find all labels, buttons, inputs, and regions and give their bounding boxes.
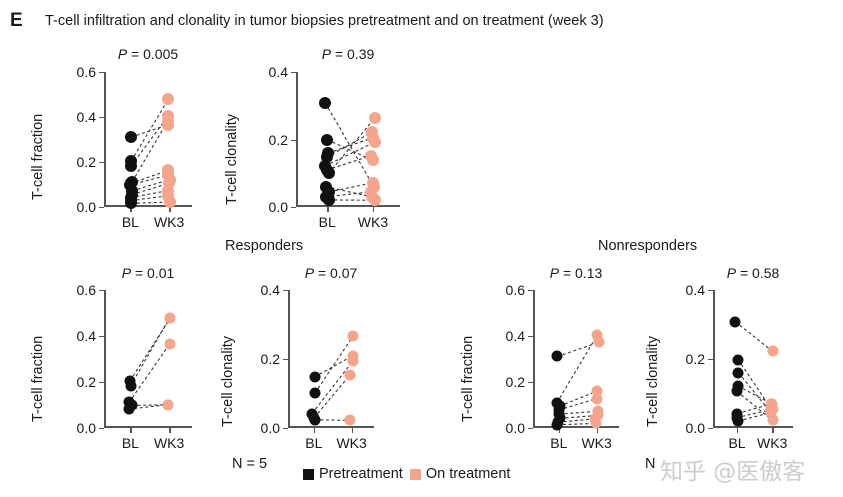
y-tick: [291, 207, 296, 208]
data-point-ontreatment: [369, 194, 381, 206]
x-tick-label-wk3: WK3: [336, 435, 366, 451]
ylabel-nonresponders-fraction: T-cell fraction: [460, 336, 476, 422]
y-tick-label: 0.0: [686, 420, 705, 436]
pair-line: [328, 138, 372, 153]
data-point-pretreatment: [551, 397, 562, 408]
plot-all-clonality: P = 0.39T-cell clonality0.00.20.4BLWK3: [0, 0, 843, 497]
data-point-pretreatment: [124, 375, 135, 386]
data-point-ontreatment: [591, 418, 602, 429]
pair-line: [130, 318, 170, 381]
pvalue-number: = 0.01: [131, 265, 174, 281]
pvalue-number: = 0.005: [127, 46, 178, 62]
data-point-ontreatment: [366, 126, 378, 138]
data-point-pretreatment: [319, 97, 331, 109]
y-tick-label: 0.2: [77, 374, 96, 390]
pair-line: [737, 391, 773, 420]
pair-line: [557, 342, 598, 356]
data-points-nonresponders-fraction: [533, 290, 619, 428]
x-axis-line: [533, 426, 619, 428]
y-tick: [283, 359, 288, 360]
x-axis-line: [288, 426, 374, 428]
data-point-ontreatment: [592, 406, 603, 417]
data-point-pretreatment: [552, 419, 563, 430]
x-tick-label-wk3: WK3: [154, 214, 184, 230]
axis-area-nonresponders-fraction: 0.00.20.40.6BLWK3: [533, 290, 619, 428]
data-point-ontreatment: [164, 338, 175, 349]
data-point-ontreatment: [347, 331, 358, 342]
data-point-pretreatment: [307, 408, 318, 419]
x-tick: [169, 428, 170, 433]
y-tick-label: 0.4: [261, 282, 280, 298]
data-point-pretreatment: [125, 192, 137, 204]
data-point-pretreatment: [323, 186, 335, 198]
pair-line: [557, 335, 597, 403]
y-tick-label: 0.0: [506, 420, 525, 436]
pair-line: [737, 404, 771, 414]
data-point-pretreatment: [319, 160, 331, 172]
pair-line: [558, 419, 595, 422]
panel-letter: E: [10, 10, 23, 32]
y-axis-line: [296, 72, 298, 207]
pair-line: [326, 192, 371, 197]
x-tick: [327, 207, 328, 212]
data-point-ontreatment: [592, 329, 603, 340]
data-point-pretreatment: [733, 416, 744, 427]
y-tick-label: 0.4: [506, 328, 525, 344]
y-tick: [99, 207, 104, 208]
data-point-ontreatment: [162, 119, 174, 131]
data-point-pretreatment: [733, 367, 744, 378]
axis-area-all-fraction: 0.00.20.40.6BLWK3: [104, 72, 192, 207]
pvalue-symbol: P: [118, 46, 127, 62]
legend-swatch-pretreatment-icon: [303, 469, 314, 480]
data-point-ontreatment: [163, 177, 175, 189]
y-tick-label: 0.0: [261, 420, 280, 436]
pair-line: [326, 187, 372, 197]
data-point-pretreatment: [321, 151, 333, 163]
data-point-pretreatment: [125, 380, 136, 391]
data-point-ontreatment: [368, 181, 380, 193]
data-point-pretreatment: [554, 401, 565, 412]
y-tick-label: 0.2: [261, 351, 280, 367]
data-point-ontreatment: [766, 398, 777, 409]
plot-nonresponders-fraction: P = 0.13T-cell fraction0.00.20.40.6BLWK3: [0, 0, 843, 497]
y-tick: [99, 117, 104, 118]
y-tick: [708, 428, 713, 429]
data-point-pretreatment: [555, 413, 566, 424]
x-tick: [772, 428, 773, 433]
data-point-pretreatment: [309, 371, 320, 382]
y-tick: [99, 72, 104, 73]
x-tick-label-bl: BL: [728, 435, 745, 451]
ylabel-all-fraction: T-cell fraction: [30, 114, 46, 200]
y-tick: [528, 428, 533, 429]
x-axis-line: [104, 426, 192, 428]
pvalue-all-clonality: P = 0.39: [296, 46, 400, 62]
data-points-nonresponders-clonality: [713, 290, 793, 428]
ylabel-responders-fraction: T-cell fraction: [30, 336, 46, 422]
data-point-ontreatment: [765, 407, 776, 418]
data-point-ontreatment: [165, 313, 176, 324]
y-tick-label: 0.4: [686, 282, 705, 298]
x-axis-line: [713, 426, 793, 428]
pair-line: [315, 336, 353, 393]
data-point-pretreatment: [323, 194, 335, 206]
y-tick-label: 0.6: [506, 282, 525, 298]
data-point-pretreatment: [731, 412, 742, 423]
pair-line: [132, 405, 168, 406]
data-point-pretreatment: [309, 412, 320, 423]
y-tick: [283, 290, 288, 291]
pvalue-symbol: P: [727, 265, 736, 281]
pair-line: [131, 318, 170, 386]
pair-line: [737, 409, 774, 418]
x-tick: [352, 428, 353, 433]
data-point-pretreatment: [733, 354, 744, 365]
pvalue-all-fraction: P = 0.005: [104, 46, 192, 62]
data-point-pretreatment: [125, 160, 137, 172]
data-point-pretreatment: [126, 400, 137, 411]
data-point-ontreatment: [767, 415, 778, 426]
data-point-ontreatment: [347, 356, 358, 367]
y-tick: [528, 382, 533, 383]
data-point-ontreatment: [162, 115, 174, 127]
pvalue-nonresponders-fraction: P = 0.13: [533, 265, 619, 281]
y-tick: [708, 359, 713, 360]
data-points-responders-clonality: [288, 290, 374, 428]
data-point-pretreatment: [310, 388, 321, 399]
legend-label-pretreatment: Pretreatment: [319, 466, 403, 482]
pair-line: [129, 405, 168, 409]
data-point-pretreatment: [320, 191, 332, 203]
pair-connector-lines: [104, 290, 192, 428]
pair-connector-lines: [713, 290, 793, 428]
pair-connector-lines: [288, 290, 374, 428]
pair-line: [557, 423, 596, 424]
pair-line: [131, 191, 168, 198]
axis-area-all-clonality: 0.00.20.4BLWK3: [296, 72, 400, 207]
y-axis-line: [713, 290, 715, 428]
pair-line: [329, 118, 375, 173]
data-point-ontreatment: [593, 410, 604, 421]
data-point-pretreatment: [126, 176, 138, 188]
data-point-ontreatment: [162, 164, 174, 176]
data-point-ontreatment: [164, 174, 176, 186]
data-point-ontreatment: [590, 413, 601, 424]
responders-n-label: N = 5: [232, 456, 267, 472]
data-point-ontreatment: [367, 177, 379, 189]
legend-item-pretreatment: Pretreatment: [303, 466, 403, 482]
data-point-ontreatment: [345, 415, 356, 426]
y-tick-label: 0.6: [77, 64, 96, 80]
data-point-pretreatment: [125, 197, 137, 209]
x-tick: [130, 428, 131, 433]
pvalue-responders-clonality: P = 0.07: [288, 265, 374, 281]
data-point-pretreatment: [126, 189, 138, 201]
x-tick: [169, 207, 170, 212]
data-point-ontreatment: [591, 386, 602, 397]
y-tick: [708, 290, 713, 291]
x-tick-label-bl: BL: [122, 214, 139, 230]
data-point-ontreatment: [369, 136, 381, 148]
pair-line: [735, 322, 772, 352]
data-point-pretreatment: [124, 397, 135, 408]
x-tick: [597, 428, 598, 433]
y-axis-line: [288, 290, 290, 428]
data-point-pretreatment: [322, 147, 334, 159]
pair-line: [312, 361, 353, 413]
y-tick-label: 0.4: [77, 328, 96, 344]
pair-line: [132, 183, 169, 194]
pvalue-number: = 0.13: [559, 265, 602, 281]
x-tick-label-wk3: WK3: [581, 435, 611, 451]
pair-line: [131, 116, 168, 166]
x-tick-label-bl: BL: [319, 214, 336, 230]
pair-line: [738, 386, 772, 404]
x-tick-label-bl: BL: [305, 435, 322, 451]
data-point-pretreatment: [553, 405, 564, 416]
data-point-pretreatment: [123, 404, 134, 415]
pair-line: [560, 415, 598, 418]
pair-connector-lines: [296, 72, 400, 207]
data-point-pretreatment: [553, 409, 564, 420]
pair-line: [132, 121, 167, 182]
figure-header: E T-cell infiltration and clonality in t…: [0, 8, 843, 38]
x-tick-label-wk3: WK3: [757, 435, 787, 451]
data-point-pretreatment: [323, 167, 335, 179]
data-point-pretreatment: [124, 179, 136, 191]
pair-line: [325, 142, 375, 166]
data-point-ontreatment: [766, 398, 777, 409]
data-point-pretreatment: [125, 177, 137, 189]
data-point-ontreatment: [365, 150, 377, 162]
y-tick: [291, 140, 296, 141]
x-axis-line: [104, 205, 192, 207]
data-point-ontreatment: [366, 191, 378, 203]
data-points-all-fraction: [104, 72, 192, 207]
pvalue-symbol: P: [322, 46, 331, 62]
data-point-ontreatment: [162, 110, 174, 122]
data-point-ontreatment: [164, 313, 175, 324]
data-point-pretreatment: [125, 155, 137, 167]
data-point-pretreatment: [730, 316, 741, 327]
pvalue-nonresponders-clonality: P = 0.58: [713, 265, 793, 281]
pair-line: [738, 360, 771, 409]
data-point-ontreatment: [365, 186, 377, 198]
y-tick: [99, 290, 104, 291]
pair-line: [131, 170, 169, 183]
data-point-pretreatment: [732, 408, 743, 419]
data-point-pretreatment: [126, 185, 138, 197]
plot-responders-fraction: P = 0.01T-cell fraction0.00.20.40.6BLWK3: [0, 0, 843, 497]
pvalue-number: = 0.39: [331, 46, 374, 62]
legend-item-ontreatment: On treatment: [410, 466, 511, 482]
pair-line: [131, 125, 167, 137]
legend-label-ontreatment: On treatment: [426, 466, 511, 482]
x-tick: [737, 428, 738, 433]
data-point-ontreatment: [162, 190, 174, 202]
data-point-pretreatment: [553, 417, 564, 428]
y-tick: [528, 336, 533, 337]
x-tick: [559, 428, 560, 433]
y-tick-label: 0.0: [77, 199, 96, 215]
watermark: 知乎 @医傲客: [660, 452, 805, 486]
pair-line: [327, 156, 371, 170]
data-points-all-clonality: [296, 72, 400, 207]
data-point-ontreatment: [162, 169, 174, 181]
pair-line: [315, 420, 350, 421]
pair-line: [738, 373, 771, 413]
x-tick: [373, 207, 374, 212]
data-point-pretreatment: [321, 164, 333, 176]
y-tick-label: 0.4: [77, 109, 96, 125]
data-point-ontreatment: [162, 399, 173, 410]
y-axis-line: [533, 290, 535, 428]
y-tick-label: 0.2: [506, 374, 525, 390]
pair-line: [738, 412, 771, 421]
data-point-ontreatment: [164, 196, 176, 208]
data-point-ontreatment: [162, 399, 173, 410]
pair-line: [131, 196, 168, 201]
plot-all-fraction: P = 0.005T-cell fraction0.00.20.40.6BLWK…: [0, 0, 843, 497]
pair-line: [131, 99, 168, 160]
y-axis-line: [104, 72, 106, 207]
data-point-ontreatment: [369, 112, 381, 124]
pvalue-symbol: P: [305, 265, 314, 281]
data-point-ontreatment: [162, 185, 174, 197]
data-point-ontreatment: [768, 404, 779, 415]
pvalue-responders-fraction: P = 0.01: [104, 265, 192, 281]
y-tick-label: 0.2: [77, 154, 96, 170]
data-points-responders-fraction: [104, 290, 192, 428]
x-tick-label-wk3: WK3: [154, 435, 184, 451]
data-point-pretreatment: [320, 181, 332, 193]
data-point-pretreatment: [732, 380, 743, 391]
data-point-ontreatment: [767, 346, 778, 357]
data-point-ontreatment: [591, 393, 602, 404]
pair-line: [314, 375, 350, 418]
y-tick-label: 0.6: [77, 282, 96, 298]
y-axis-line: [104, 290, 106, 428]
pair-line: [327, 132, 372, 157]
pair-line: [559, 411, 598, 414]
pair-line: [315, 356, 354, 377]
data-point-ontreatment: [367, 132, 379, 144]
data-point-ontreatment: [162, 93, 174, 105]
pair-line: [327, 140, 373, 161]
x-tick-label-bl: BL: [122, 435, 139, 451]
pvalue-number: = 0.07: [314, 265, 357, 281]
x-tick: [130, 207, 131, 212]
data-point-pretreatment: [552, 351, 563, 362]
legend-swatch-ontreatment-icon: [410, 469, 421, 480]
x-tick-label-wk3: WK3: [358, 214, 388, 230]
y-tick: [99, 382, 104, 383]
plot-responders-clonality: P = 0.07T-cell clonality0.00.20.4BLWK3: [0, 0, 843, 497]
axis-area-responders-fraction: 0.00.20.40.6BLWK3: [104, 290, 192, 428]
data-point-pretreatment: [309, 414, 320, 425]
page-title: T-cell infiltration and clonality in tum…: [45, 13, 604, 29]
data-point-ontreatment: [367, 154, 379, 166]
y-tick-label: 0.2: [269, 132, 288, 148]
pvalue-symbol: P: [122, 265, 131, 281]
data-point-ontreatment: [593, 337, 604, 348]
pair-line: [325, 103, 374, 187]
pair-line: [559, 399, 597, 411]
ylabel-responders-clonality: T-cell clonality: [220, 336, 236, 427]
pair-connector-lines: [533, 290, 619, 428]
data-point-ontreatment: [348, 350, 359, 361]
pair-line: [132, 180, 170, 191]
data-point-pretreatment: [125, 195, 137, 207]
data-point-ontreatment: [345, 369, 356, 380]
pvalue-number: = 0.58: [736, 265, 779, 281]
data-point-ontreatment: [766, 404, 777, 415]
ylabel-all-clonality: T-cell clonality: [224, 114, 240, 205]
x-axis-line: [296, 205, 400, 207]
y-tick: [99, 162, 104, 163]
y-tick-label: 0.4: [269, 64, 288, 80]
pvalue-symbol: P: [550, 265, 559, 281]
y-tick-label: 0.0: [77, 420, 96, 436]
y-tick-label: 0.2: [686, 351, 705, 367]
pair-line: [560, 391, 597, 406]
y-tick-label: 0.0: [269, 199, 288, 215]
data-point-pretreatment: [125, 131, 137, 143]
y-tick: [99, 428, 104, 429]
y-tick: [528, 290, 533, 291]
pair-line: [130, 175, 169, 185]
data-point-pretreatment: [731, 386, 742, 397]
data-point-ontreatment: [765, 407, 776, 418]
group-heading-responders: Responders: [225, 238, 303, 254]
nonresponders-n-label: N: [645, 456, 655, 472]
legend: Pretreatment On treatment: [303, 466, 510, 482]
pair-line: [329, 183, 373, 192]
axis-area-nonresponders-clonality: 0.00.20.4BLWK3: [713, 290, 793, 428]
plot-nonresponders-clonality: P = 0.58T-cell clonality0.00.20.4BLWK3: [0, 0, 843, 497]
pair-line: [129, 344, 170, 402]
x-tick: [314, 428, 315, 433]
data-point-pretreatment: [321, 134, 333, 146]
pair-connector-lines: [104, 72, 192, 207]
ylabel-nonresponders-clonality: T-cell clonality: [645, 336, 661, 427]
y-tick: [283, 428, 288, 429]
group-heading-nonresponders: Nonresponders: [598, 238, 697, 254]
axis-area-responders-clonality: 0.00.20.4BLWK3: [288, 290, 374, 428]
x-tick-label-bl: BL: [550, 435, 567, 451]
pair-line: [131, 202, 169, 203]
y-tick: [291, 72, 296, 73]
y-tick: [99, 336, 104, 337]
